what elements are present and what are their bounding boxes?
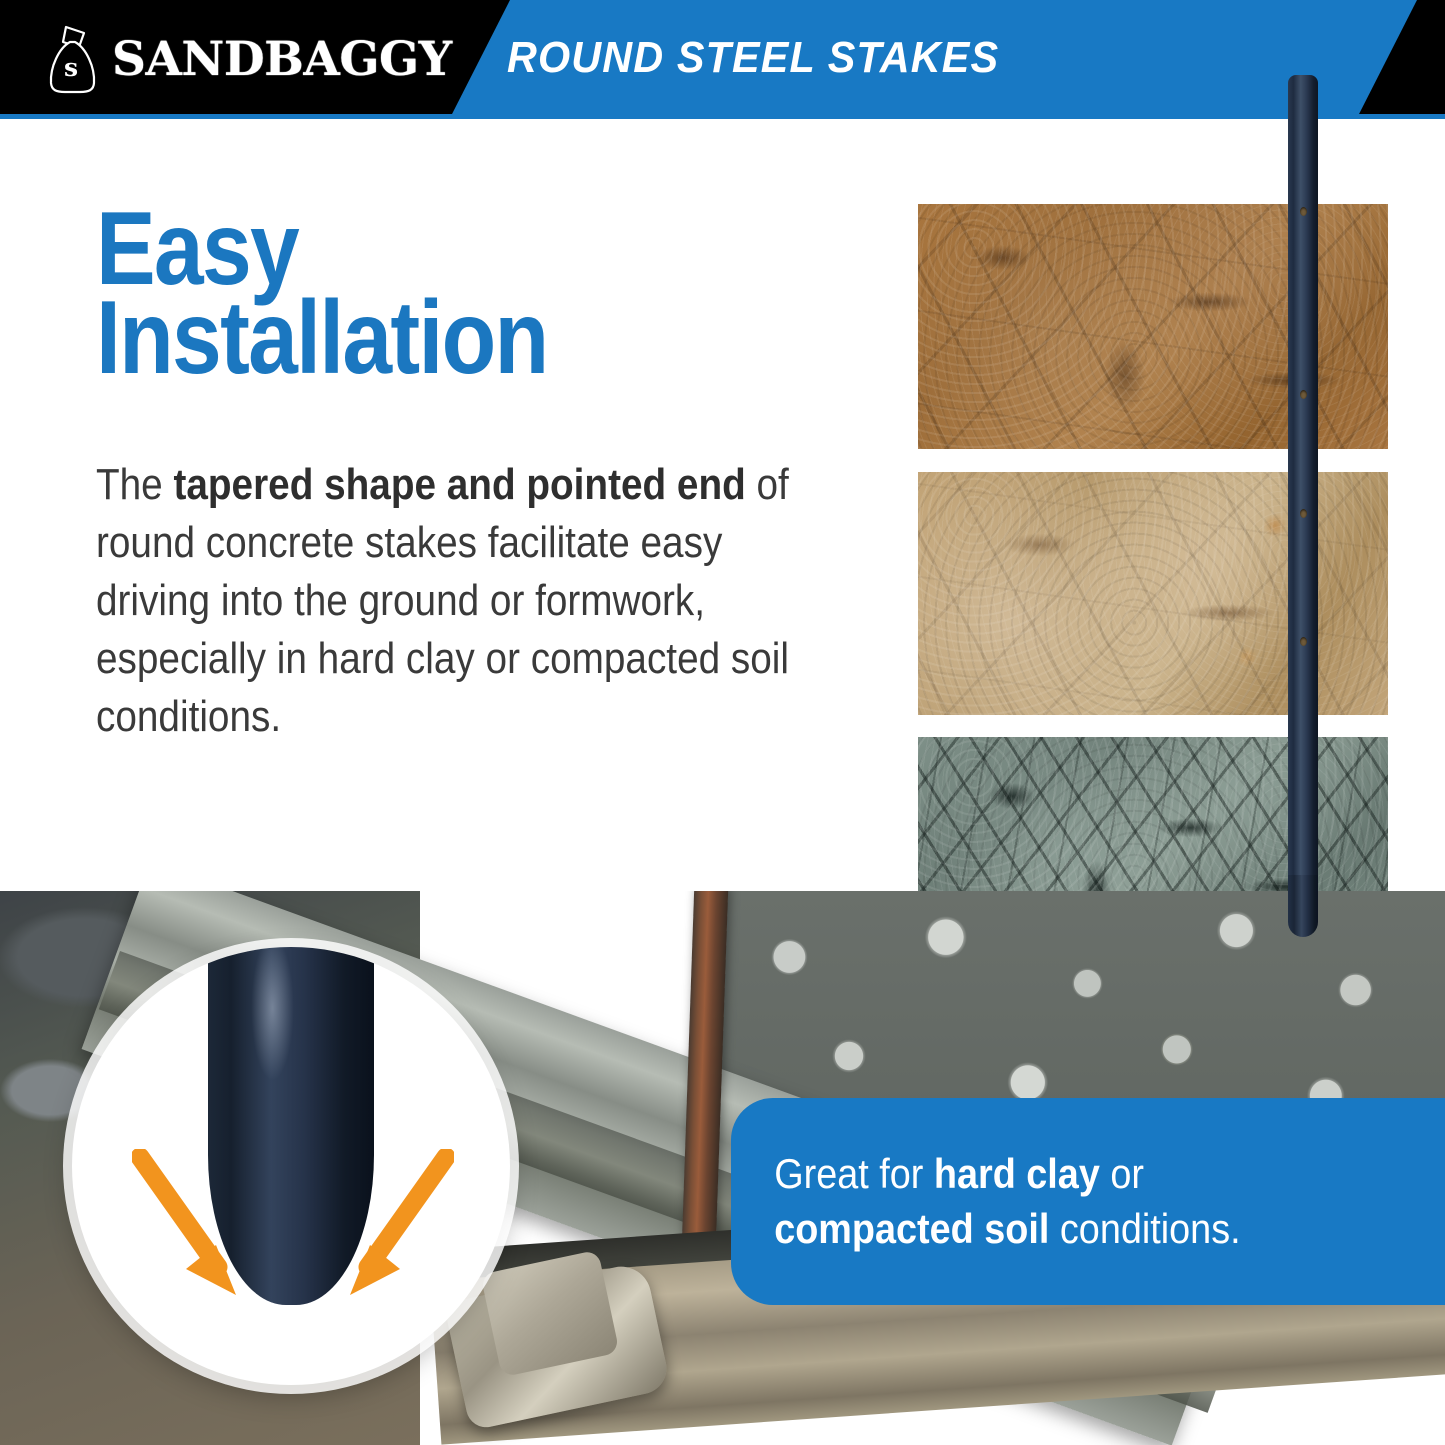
- round-steel-stake: [1288, 75, 1318, 935]
- callout-plain-3: conditions.: [1049, 1205, 1240, 1252]
- body-text-bold-1: tapered shape and pointed end: [173, 460, 745, 509]
- page-headline: Easy Installation: [96, 205, 715, 384]
- stake-shaft: [1288, 75, 1318, 893]
- callout-banner: Great for hard clay or compacted soil co…: [731, 1098, 1445, 1305]
- body-text-plain-1: The: [96, 460, 173, 509]
- body-paragraph: The tapered shape and pointed end of rou…: [96, 456, 800, 746]
- pointed-tip-detail-inset: [72, 947, 510, 1385]
- brand-name: SANDBAGGY: [112, 36, 452, 83]
- stake-rivet-hole: [1300, 207, 1307, 216]
- stake-rivet-hole: [1300, 509, 1307, 518]
- header-bar: s SANDBAGGY ROUND STEEL STAKES: [0, 0, 1445, 118]
- sandbag-icon: s: [46, 23, 98, 95]
- callout-plain-1: Great for: [774, 1150, 934, 1197]
- svg-text:s: s: [64, 53, 78, 82]
- callout-bold-2: compacted soil: [774, 1205, 1049, 1252]
- callout-plain-2: or: [1100, 1150, 1144, 1197]
- stake-pointed-tip: [1288, 875, 1318, 937]
- right-arrow-icon: [324, 1149, 454, 1309]
- headline-line-2: Installation: [96, 294, 715, 383]
- callout-bold-1: hard clay: [934, 1150, 1100, 1197]
- brand-logo: s SANDBAGGY: [46, 22, 452, 96]
- header-title: ROUND STEEL STAKES: [507, 33, 999, 83]
- infographic-page: s SANDBAGGY ROUND STEEL STAKES Easy Inst…: [0, 0, 1445, 1445]
- left-arrow-icon: [132, 1149, 262, 1309]
- stake-rivet-hole: [1300, 390, 1307, 399]
- callout-text: Great for hard clay or compacted soil co…: [731, 1147, 1374, 1256]
- stake-rivet-hole: [1300, 637, 1307, 646]
- content-section: Easy Installation The tapered shape and …: [0, 119, 1445, 891]
